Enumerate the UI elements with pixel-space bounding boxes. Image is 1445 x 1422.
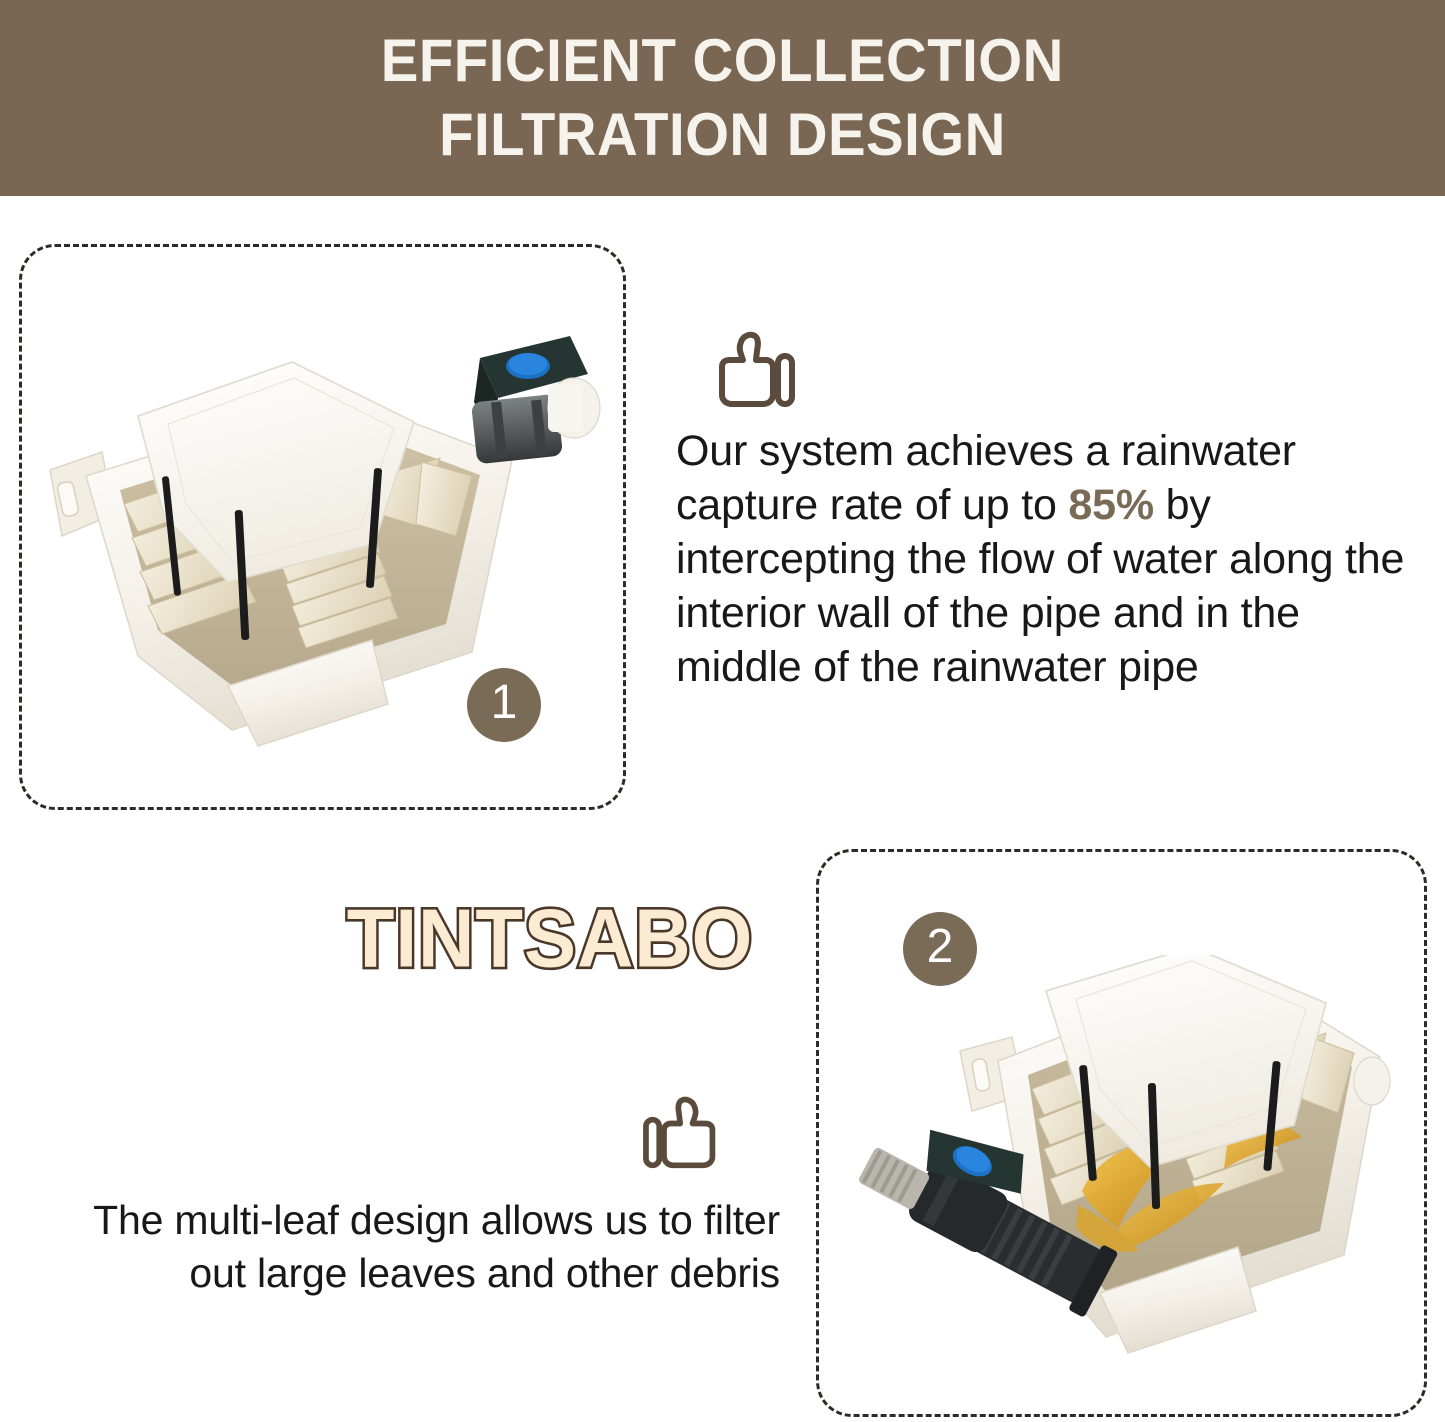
step-badge-one: 1 xyxy=(467,668,541,742)
thumbs-up-icon-two xyxy=(642,1095,724,1171)
rainwater-collector-illustration-two xyxy=(832,955,1412,1385)
feature-two-text: The multi-leaf design allows us to filte… xyxy=(40,1194,780,1300)
brand-logo: TINTSABO xyxy=(330,893,770,985)
header-banner: EFFICIENT COLLECTION FILTRATION DESIGN xyxy=(0,0,1445,196)
infographic-page: EFFICIENT COLLECTION FILTRATION DESIGN xyxy=(0,0,1445,1422)
brand-logo-text: TINTSABO xyxy=(347,893,754,985)
header-title-line-1: EFFICIENT COLLECTION xyxy=(381,24,1064,98)
product-photo-two xyxy=(832,955,1412,1385)
header-title-line-2: FILTRATION DESIGN xyxy=(439,98,1006,172)
thumbs-up-icon-one xyxy=(710,330,1416,410)
feature-block-one: Our system achieves a rainwater capture … xyxy=(676,330,1416,694)
feature-one-highlight: 85% xyxy=(1068,481,1153,529)
step-badge-two: 2 xyxy=(903,912,977,986)
valve-assembly-one xyxy=(471,336,600,464)
feature-block-two: The multi-leaf design allows us to filte… xyxy=(40,1095,780,1300)
feature-one-text: Our system achieves a rainwater capture … xyxy=(676,424,1416,694)
brand-logo-wordmark: TINTSABO xyxy=(330,893,770,985)
